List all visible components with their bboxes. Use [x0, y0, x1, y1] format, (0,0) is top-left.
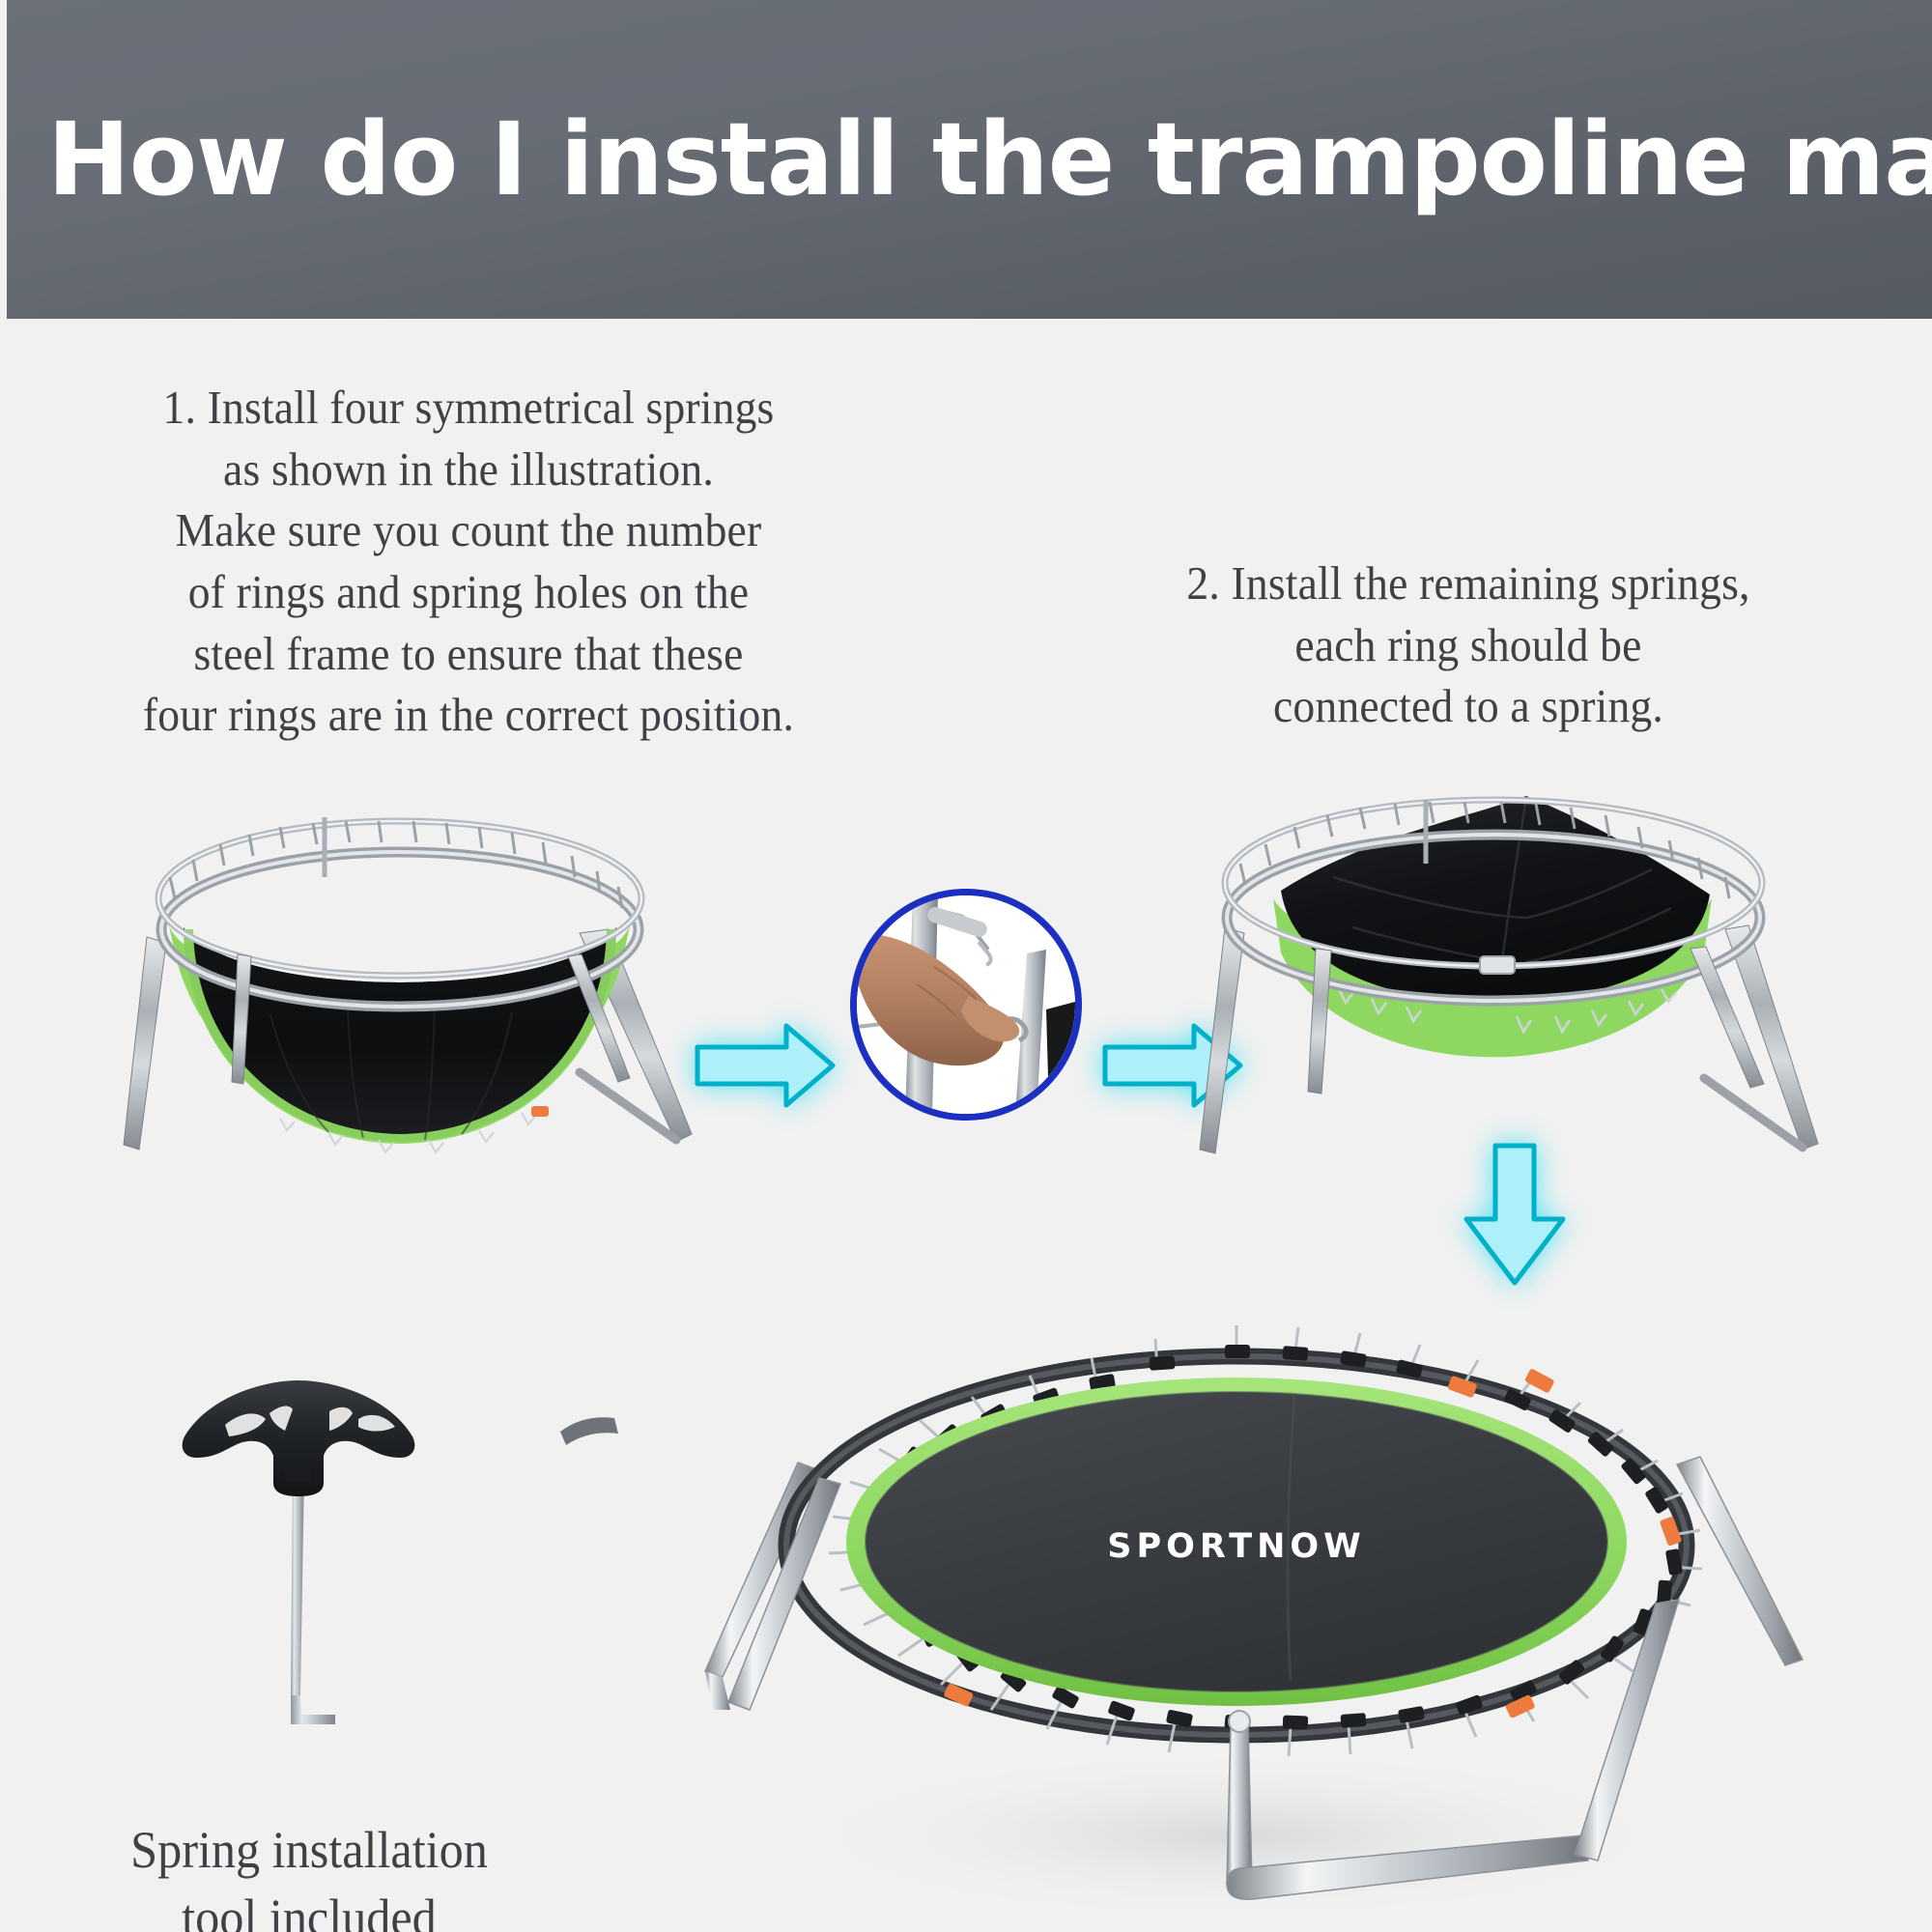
brand-logo: SPORTNOW — [1107, 1527, 1366, 1566]
step-1-line-5: steel frame to ensure that these — [51, 623, 887, 685]
assembled-trampoline-illustration: SPORTNOW — [560, 1256, 1932, 1932]
step-1-line-6: four rings are in the correct position. — [51, 684, 887, 746]
page-title: How do I install the trampoline mat? — [47, 109, 1932, 210]
detached-hook-piece — [560, 1417, 618, 1445]
spring-installation-tool-illustration — [169, 1377, 449, 1758]
header-banner: How do I install the trampoline mat? — [7, 0, 1932, 319]
step-1-line-2: as shown in the illustration. — [51, 439, 887, 500]
step-1-line-4: of rings and spring holes on the — [51, 561, 887, 623]
infographic-page: How do I install the trampoline mat? 1. … — [0, 0, 1932, 1932]
step-1-illustration — [39, 763, 753, 1207]
tool-caption-line-1: Spring installation — [40, 1816, 579, 1884]
arrow-step1-to-inset-icon — [694, 1012, 838, 1119]
tool-caption: Spring installation tool included — [40, 1816, 579, 1932]
step-2-line-3: connected to a spring. — [1073, 675, 1863, 737]
step-1-line-3: Make sure you count the number — [51, 499, 887, 561]
step-2-line-1: 2. Install the remaining springs, — [1073, 553, 1863, 614]
frame-spring-hooks — [170, 821, 622, 908]
step-1-instructions: 1. Install four symmetrical springs as s… — [51, 377, 887, 746]
step-1-line-1: 1. Install four symmetrical springs — [51, 377, 887, 439]
inset-photo — [857, 895, 1075, 1114]
step-2-line-2: each ring should be — [1073, 614, 1863, 676]
spring-hook-detail-inset — [850, 889, 1082, 1121]
step-2-instructions: 2. Install the remaining springs, each r… — [1073, 553, 1863, 737]
tool-caption-line-2: tool included — [40, 1884, 579, 1932]
